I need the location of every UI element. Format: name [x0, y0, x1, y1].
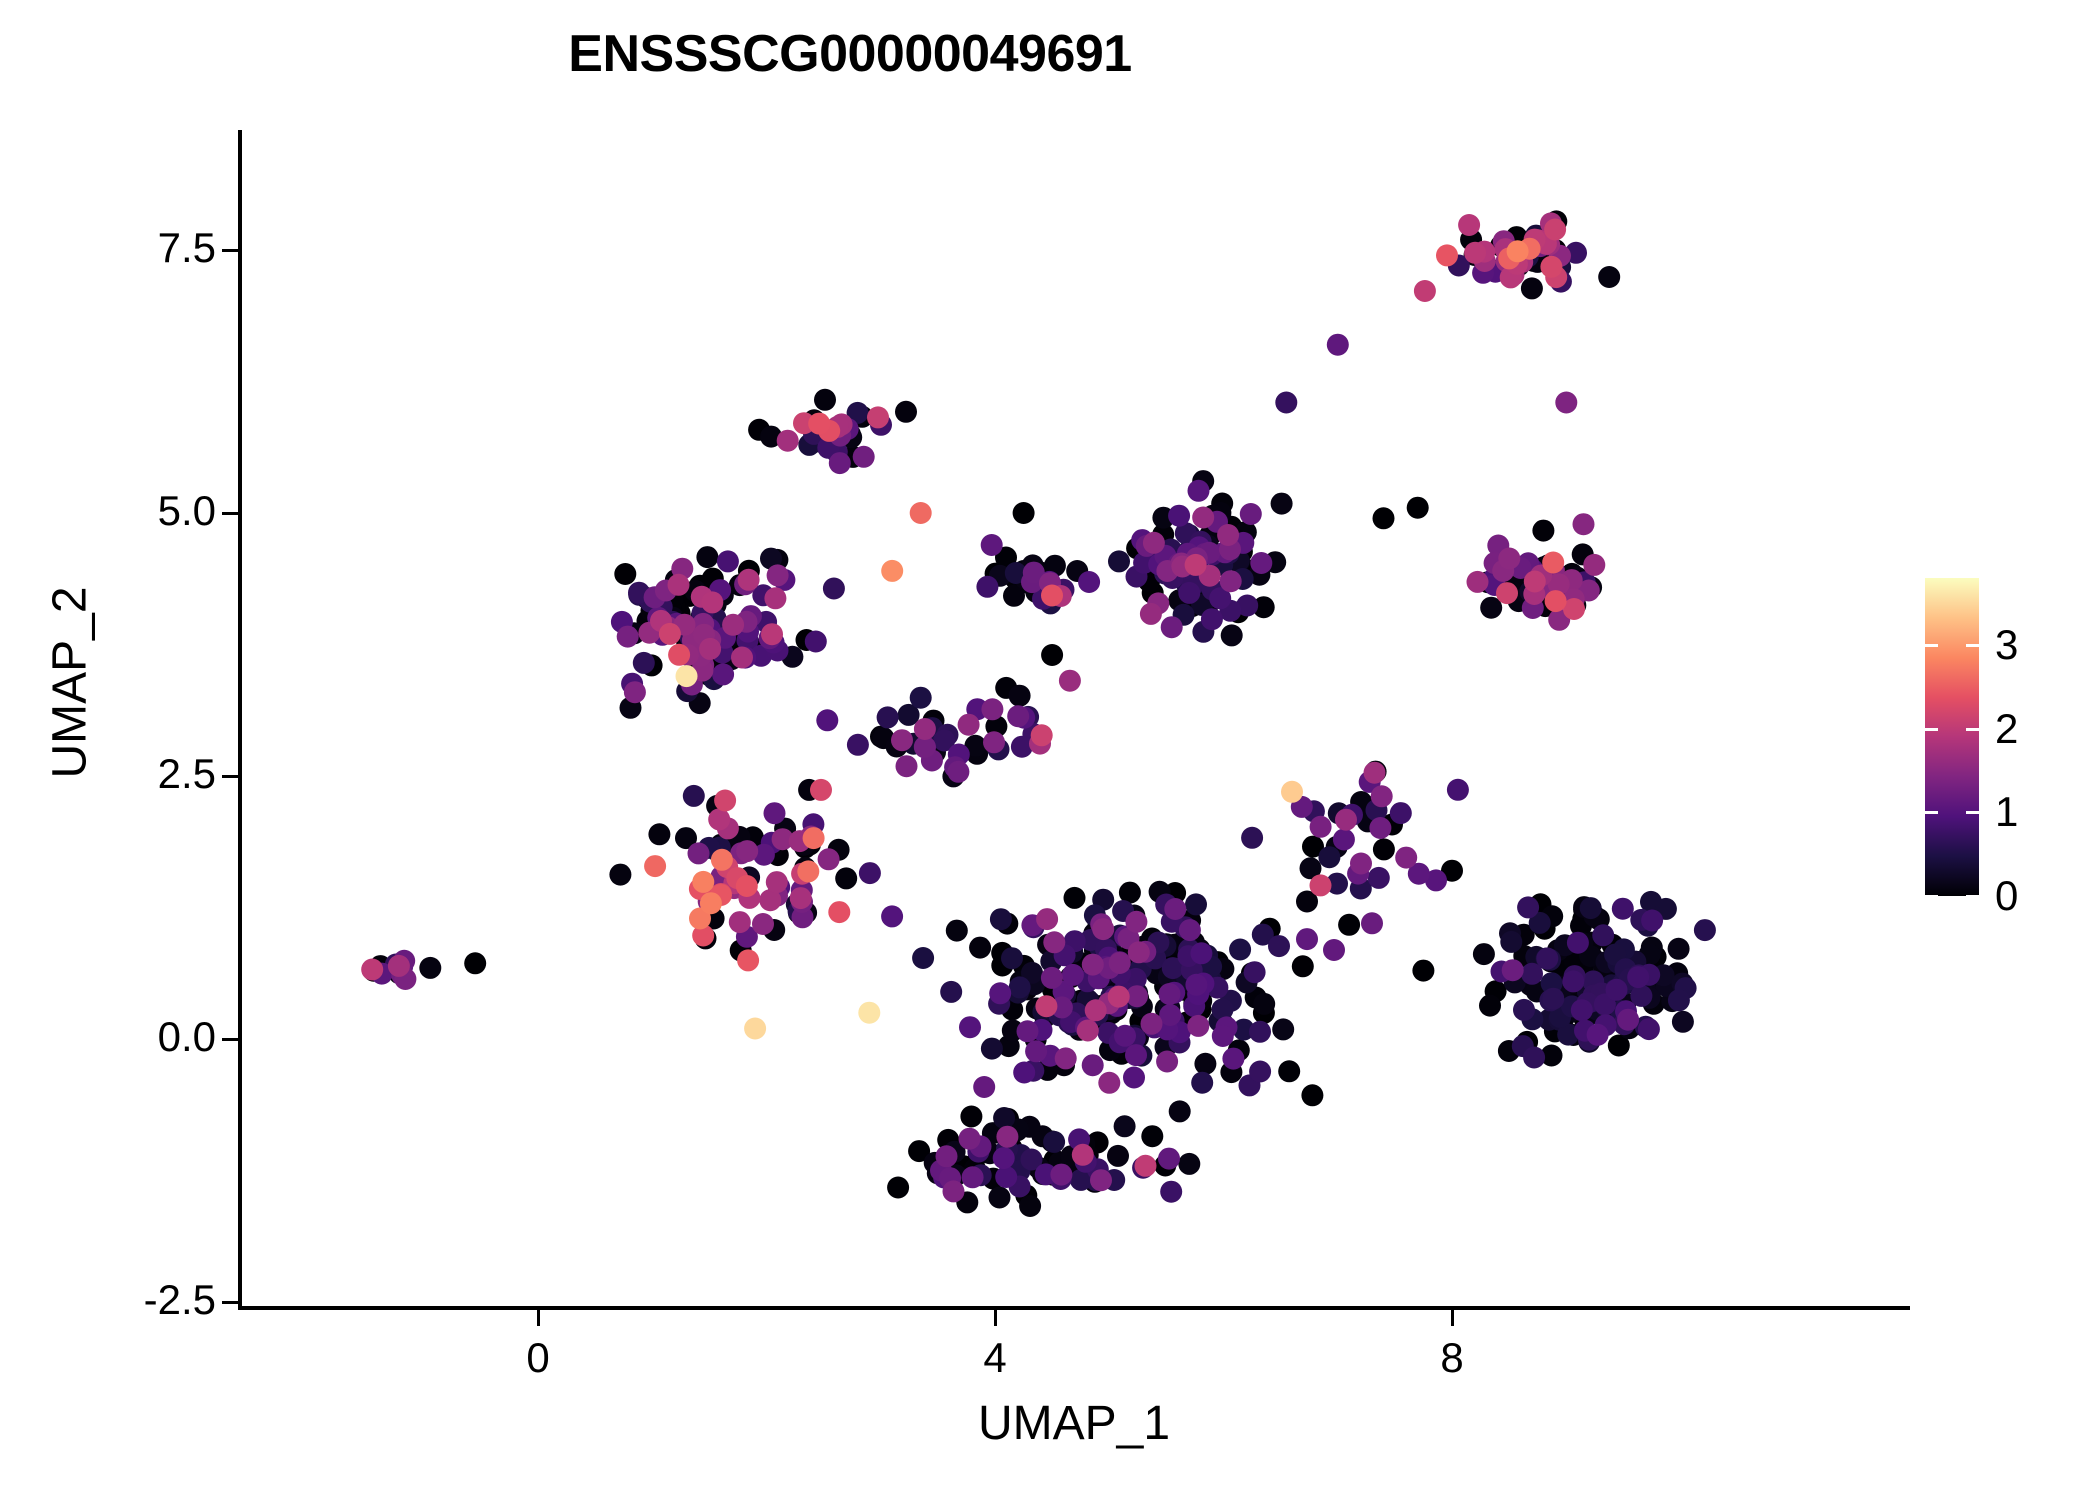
scatter-point — [1502, 959, 1524, 981]
scatter-point — [1114, 1025, 1136, 1047]
scatter-point — [936, 1145, 958, 1167]
scatter-point — [1368, 867, 1390, 889]
scatter-point — [1333, 829, 1355, 851]
scatter-point — [853, 446, 875, 468]
scatter-point — [983, 731, 1005, 753]
scatter-point — [1296, 928, 1318, 950]
scatter-point — [993, 1107, 1015, 1129]
scatter-point — [1532, 520, 1554, 542]
scatter-point — [1573, 513, 1595, 535]
scatter-point — [712, 663, 734, 685]
scatter-point — [959, 1128, 981, 1150]
scatter-point — [1013, 1062, 1035, 1084]
scatter-point — [1542, 552, 1564, 574]
scatter-point — [361, 959, 383, 981]
scatter-point — [1268, 935, 1290, 957]
scatter-point — [1114, 1115, 1136, 1137]
scatter-point — [614, 563, 636, 585]
colorbar-tick-label: 3 — [1995, 621, 2018, 669]
scatter-point — [1323, 939, 1345, 961]
scatter-point — [1641, 910, 1663, 932]
x-axis-label: UMAP_1 — [238, 1396, 1910, 1451]
scatter-point — [887, 1177, 909, 1199]
scatter-point — [910, 502, 932, 524]
scatter-point — [1043, 1131, 1065, 1153]
scatter-point — [1275, 392, 1297, 414]
scatter-point — [1464, 242, 1486, 264]
colorbar-tick-label: 2 — [1995, 705, 2018, 753]
scatter-point — [1513, 999, 1535, 1021]
scatter-point — [914, 718, 936, 740]
scatter-point — [995, 1166, 1017, 1188]
scatter-points-layer — [0, 0, 2100, 1500]
scatter-point — [1517, 896, 1539, 918]
scatter-point — [1192, 507, 1214, 529]
scatter-point — [912, 947, 934, 969]
scatter-point — [696, 546, 718, 568]
scatter-point — [1500, 931, 1522, 953]
scatter-point — [1140, 603, 1162, 625]
scatter-point — [1169, 1100, 1191, 1122]
scatter-point — [867, 406, 889, 428]
scatter-point — [1473, 943, 1495, 965]
scatter-point — [973, 1076, 995, 1098]
scatter-point — [1077, 1020, 1099, 1042]
scatter-point — [1217, 524, 1239, 546]
scatter-point — [1190, 942, 1212, 964]
scatter-point — [989, 982, 1011, 1004]
scatter-point — [1407, 497, 1429, 519]
scatter-point — [976, 576, 998, 598]
scatter-point — [668, 644, 690, 666]
scatter-point — [1013, 502, 1035, 524]
scatter-point — [1617, 1009, 1639, 1031]
scatter-point — [1043, 931, 1065, 953]
scatter-point — [1185, 554, 1207, 576]
scatter-point — [1668, 938, 1690, 960]
colorbar-tick-mark — [1925, 728, 1938, 731]
scatter-point — [1036, 908, 1058, 930]
scatter-point — [895, 401, 917, 423]
scatter-point — [767, 564, 789, 586]
scatter-point — [1292, 955, 1314, 977]
scatter-point — [752, 913, 774, 935]
scatter-point — [1064, 887, 1086, 909]
scatter-point — [617, 626, 639, 648]
scatter-point — [1467, 571, 1489, 593]
scatter-point — [1373, 838, 1395, 860]
scatter-point — [1447, 779, 1469, 801]
scatter-point — [1168, 505, 1190, 527]
scatter-point — [1062, 964, 1084, 986]
scatter-point — [1436, 244, 1458, 266]
scatter-point — [1041, 644, 1063, 666]
scatter-point — [744, 1018, 766, 1040]
scatter-point — [1221, 624, 1243, 646]
scatter-point — [1082, 1054, 1104, 1076]
scatter-point — [962, 1166, 984, 1188]
scatter-point — [1009, 976, 1031, 998]
scatter-point — [1507, 240, 1529, 262]
scatter-point — [1668, 989, 1690, 1011]
scatter-point — [1638, 1018, 1660, 1040]
scatter-point — [1185, 893, 1207, 915]
color-legend: 0123 — [1925, 578, 1979, 896]
scatter-point — [805, 631, 827, 653]
scatter-point — [1567, 932, 1589, 954]
scatter-point — [1244, 961, 1266, 983]
scatter-point — [1041, 585, 1063, 607]
scatter-point — [1521, 963, 1543, 985]
scatter-point — [1479, 995, 1501, 1017]
colorbar-tick-mark — [1925, 895, 1938, 898]
scatter-point — [989, 1187, 1011, 1209]
scatter-point — [1031, 724, 1053, 746]
scatter-point — [946, 920, 968, 942]
scatter-point — [1414, 280, 1436, 302]
colorbar-tick-mark — [1925, 644, 1938, 647]
scatter-point — [940, 981, 962, 1003]
scatter-point — [1253, 993, 1275, 1015]
scatter-point — [1179, 919, 1201, 941]
scatter-point — [1369, 817, 1391, 839]
scatter-point — [797, 860, 819, 882]
scatter-point — [881, 905, 903, 927]
scatter-point — [1007, 705, 1029, 727]
scatter-point — [1542, 988, 1564, 1010]
scatter-point — [1019, 1195, 1041, 1217]
scatter-point — [1178, 582, 1200, 604]
scatter-point — [1524, 571, 1546, 593]
scatter-point — [1412, 960, 1434, 982]
scatter-point — [738, 569, 760, 591]
scatter-point — [1627, 966, 1649, 988]
umap-feature-plot: ENSSSCG00000049691 -2.50.02.55.07.5 048 … — [0, 0, 2100, 1500]
scatter-point — [1521, 277, 1543, 299]
scatter-point — [729, 911, 751, 933]
scatter-point — [803, 827, 825, 849]
scatter-point — [1540, 256, 1562, 278]
scatter-point — [969, 937, 991, 959]
scatter-point — [659, 623, 681, 645]
scatter-point — [1194, 1053, 1216, 1075]
scatter-point — [711, 849, 733, 871]
scatter-point — [1035, 995, 1057, 1017]
scatter-point — [676, 665, 698, 687]
scatter-point — [1017, 1020, 1039, 1042]
scatter-point — [829, 452, 851, 474]
scatter-point — [764, 802, 786, 824]
scatter-point — [419, 957, 441, 979]
scatter-point — [1562, 970, 1584, 992]
scatter-point — [717, 550, 739, 572]
scatter-point — [1160, 1181, 1182, 1203]
scatter-point — [1135, 1155, 1157, 1177]
scatter-point — [1281, 781, 1303, 803]
scatter-point — [722, 614, 744, 636]
scatter-point — [633, 652, 655, 674]
scatter-point — [1001, 947, 1023, 969]
scatter-point — [1310, 816, 1332, 838]
scatter-point — [1143, 532, 1165, 554]
scatter-point — [1523, 1047, 1545, 1069]
scatter-point — [1694, 919, 1716, 941]
scatter-point — [1371, 785, 1393, 807]
scatter-point — [1161, 616, 1183, 638]
scatter-point — [1583, 554, 1605, 576]
scatter-point — [818, 848, 840, 870]
scatter-point — [1041, 967, 1063, 989]
scatter-point — [1250, 552, 1272, 574]
scatter-point — [731, 647, 753, 669]
scatter-point — [714, 790, 736, 812]
scatter-point — [1092, 918, 1114, 940]
scatter-point — [881, 560, 903, 582]
scatter-point — [959, 1016, 981, 1038]
scatter-point — [1107, 1145, 1129, 1167]
scatter-point — [859, 862, 881, 884]
colorbar-tick-mark — [1966, 895, 1979, 898]
scatter-point — [1108, 986, 1130, 1008]
scatter-point — [1580, 897, 1602, 919]
scatter-point — [996, 1126, 1018, 1148]
scatter-point — [1545, 590, 1567, 612]
scatter-point — [1361, 912, 1383, 934]
scatter-point — [1240, 503, 1262, 525]
scatter-point — [1498, 548, 1520, 570]
scatter-point — [910, 687, 932, 709]
scatter-point — [1390, 802, 1412, 824]
scatter-point — [877, 706, 899, 728]
scatter-point — [814, 389, 836, 411]
scatter-point — [1272, 1018, 1294, 1040]
scatter-point — [1350, 853, 1372, 875]
scatter-point — [1050, 1164, 1072, 1186]
scatter-point — [1373, 507, 1395, 529]
scatter-point — [1612, 898, 1634, 920]
scatter-point — [1318, 846, 1340, 868]
colorbar-tick-mark — [1966, 728, 1979, 731]
scatter-point — [810, 779, 832, 801]
scatter-point — [1364, 762, 1386, 784]
scatter-point — [808, 413, 830, 435]
scatter-point — [1222, 1048, 1244, 1070]
scatter-point — [823, 578, 845, 600]
scatter-point — [764, 587, 786, 609]
scatter-point — [1055, 1047, 1077, 1069]
scatter-point — [1128, 941, 1150, 963]
scatter-point — [1271, 493, 1293, 515]
scatter-point — [700, 892, 722, 914]
scatter-point — [947, 761, 969, 783]
scatter-point — [1159, 983, 1181, 1005]
colorbar-tick-label: 0 — [1995, 872, 2018, 920]
scatter-point — [1249, 1021, 1271, 1043]
scatter-point — [737, 949, 759, 971]
scatter-point — [1310, 874, 1332, 896]
scatter-point — [1072, 1144, 1094, 1166]
scatter-point — [990, 908, 1012, 930]
scatter-point — [1141, 1013, 1163, 1035]
scatter-point — [692, 871, 714, 893]
scatter-point — [1301, 1084, 1323, 1106]
scatter-point — [1496, 582, 1518, 604]
scatter-point — [1335, 809, 1357, 831]
scatter-point — [1201, 608, 1223, 630]
scatter-point — [683, 785, 705, 807]
scatter-point — [1108, 550, 1130, 572]
scatter-point — [736, 840, 758, 862]
scatter-point — [1185, 974, 1207, 996]
scatter-point — [858, 1002, 880, 1024]
scatter-point — [981, 1038, 1003, 1060]
scatter-point — [816, 709, 838, 731]
scatter-point — [1327, 334, 1349, 356]
scatter-point — [1672, 1011, 1694, 1033]
scatter-point — [943, 1180, 965, 1202]
scatter-point — [847, 734, 869, 756]
colorbar-tick-mark — [1966, 811, 1979, 814]
scatter-point — [1082, 954, 1104, 976]
colorbar-tick-label: 1 — [1995, 788, 2018, 836]
y-axis-label: UMAP_2 — [43, 323, 98, 1043]
scatter-point — [761, 623, 783, 645]
scatter-point — [993, 1147, 1015, 1169]
scatter-point — [1109, 952, 1131, 974]
scatter-point — [464, 952, 486, 974]
scatter-point — [960, 1106, 982, 1128]
scatter-point — [1220, 570, 1242, 592]
scatter-point — [1249, 1061, 1271, 1083]
scatter-point — [1125, 911, 1147, 933]
scatter-point — [1191, 1072, 1213, 1094]
scatter-point — [1085, 999, 1107, 1021]
scatter-point — [1395, 847, 1417, 869]
scatter-point — [790, 887, 812, 909]
scatter-point — [1141, 1125, 1163, 1147]
scatter-point — [1158, 1148, 1180, 1170]
scatter-point — [828, 901, 850, 923]
scatter-point — [896, 755, 918, 777]
scatter-point — [708, 808, 730, 830]
scatter-point — [1338, 914, 1360, 936]
scatter-point — [1212, 1025, 1234, 1047]
scatter-point — [668, 574, 690, 596]
scatter-point — [1544, 219, 1566, 241]
scatter-point — [736, 875, 758, 897]
scatter-point — [1125, 1044, 1147, 1066]
scatter-point — [1598, 266, 1620, 288]
scatter-point — [699, 638, 721, 660]
scatter-point — [891, 729, 913, 751]
scatter-point — [958, 714, 980, 736]
scatter-point — [644, 855, 666, 877]
scatter-point — [701, 591, 723, 613]
scatter-point — [1078, 571, 1100, 593]
scatter-point — [1187, 1015, 1209, 1037]
colorbar-tick-mark — [1925, 811, 1938, 814]
scatter-point — [1164, 898, 1186, 920]
colorbar-tick-mark — [1966, 644, 1979, 647]
scatter-point — [1592, 924, 1614, 946]
scatter-point — [1159, 1004, 1181, 1026]
scatter-point — [1090, 1169, 1112, 1191]
scatter-point — [1241, 827, 1263, 849]
scatter-point — [981, 534, 1003, 556]
scatter-point — [835, 867, 857, 889]
scatter-point — [1025, 1040, 1047, 1062]
scatter-point — [777, 430, 799, 452]
scatter-point — [1188, 480, 1210, 502]
scatter-point — [688, 842, 710, 864]
scatter-point — [648, 823, 670, 845]
scatter-point — [1156, 1051, 1178, 1073]
scatter-point — [1571, 999, 1593, 1021]
scatter-point — [609, 864, 631, 886]
scatter-point — [1587, 1024, 1609, 1046]
scatter-point — [766, 871, 788, 893]
scatter-point — [1458, 214, 1480, 236]
scatter-point — [1059, 670, 1081, 692]
scatter-point — [1178, 1153, 1200, 1175]
scatter-point — [388, 955, 410, 977]
colorbar-gradient — [1925, 578, 1979, 896]
scatter-point — [1278, 1060, 1300, 1082]
scatter-point — [981, 698, 1003, 720]
scatter-point — [1009, 685, 1031, 707]
scatter-point — [1606, 979, 1628, 1001]
scatter-point — [624, 681, 646, 703]
scatter-point — [1229, 939, 1251, 961]
scatter-point — [1555, 392, 1577, 414]
scatter-point — [1123, 1067, 1145, 1089]
scatter-point — [1098, 1072, 1120, 1094]
